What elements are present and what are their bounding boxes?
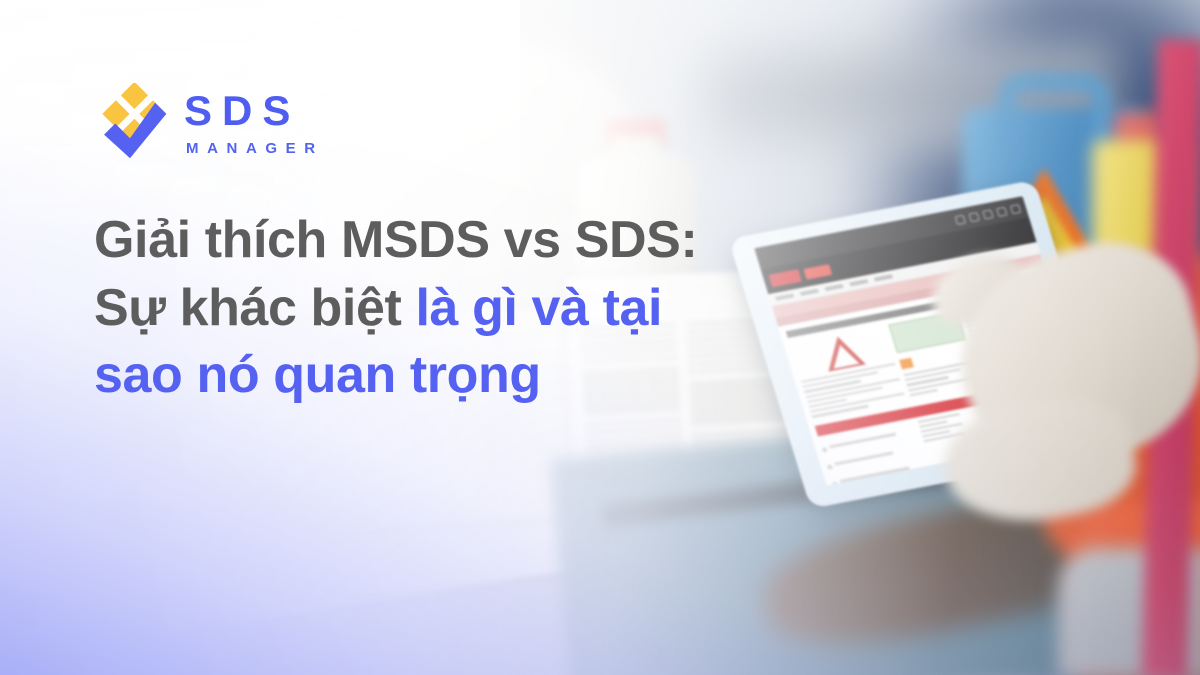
headline-line-2-gray: Sự khác biệt bbox=[94, 279, 415, 337]
content-layer: SDS MANAGER Giải thích MSDS vs SDS: Sự k… bbox=[0, 0, 1200, 675]
brand-wordmark: SDS MANAGER bbox=[184, 88, 324, 156]
brand-name-primary: SDS bbox=[184, 90, 324, 132]
brand-logo-lockup[interactable]: SDS MANAGER bbox=[93, 83, 324, 161]
diamond-check-logo-icon bbox=[93, 83, 167, 161]
headline-line-3: sao nó quan trọng bbox=[94, 346, 541, 404]
brand-name-secondary: MANAGER bbox=[186, 141, 324, 156]
headline-line-1: Giải thích MSDS vs SDS: bbox=[94, 211, 697, 269]
page-title: Giải thích MSDS vs SDS: Sự khác biệt là … bbox=[94, 207, 794, 410]
headline-line-2-blue: là gì và tại bbox=[415, 279, 662, 337]
banner: SDS MANAGER Giải thích MSDS vs SDS: Sự k… bbox=[0, 0, 1200, 675]
